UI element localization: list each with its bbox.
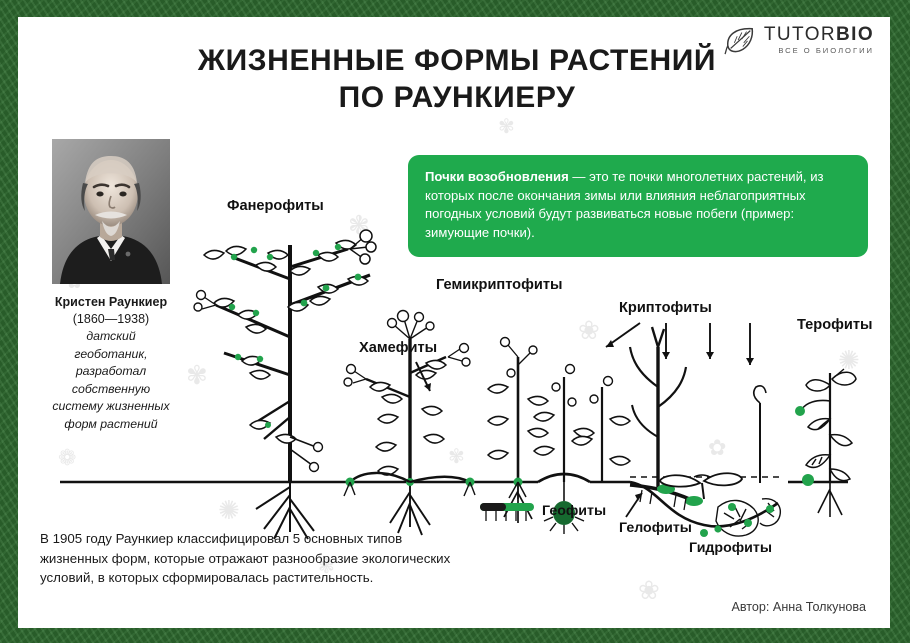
- white-card: ❀ ✿ ✾ ❁ ✺ ❃ ✾ ❀ ✿ ❁ ✺ ❃ ❀ ✾ TUTORBIO В: [18, 17, 890, 628]
- plant-helophyte: [626, 327, 703, 517]
- plant-therophyte: [795, 369, 856, 517]
- label-hemicryptophytes: Гемикриптофиты: [436, 277, 562, 293]
- logo-tagline: ВСЕ О БИОЛОГИИ: [764, 47, 874, 55]
- infographic-poster: ❀ ✿ ✾ ❁ ✺ ❃ ✾ ❀ ✿ ❁ ✺ ❃ ❀ ✾ TUTORBIO В: [0, 0, 910, 643]
- plant-life-forms-diagram: [18, 187, 890, 577]
- title-line-1: ЖИЗНЕННЫЕ ФОРМЫ РАСТЕНИЙ: [148, 43, 766, 80]
- watermark-icon: ❀: [638, 577, 660, 603]
- label-geophytes: Геофиты: [542, 503, 606, 519]
- page-title: ЖИЗНЕННЫЕ ФОРМЫ РАСТЕНИЙ ПО РАУНКИЕРУ: [148, 43, 766, 116]
- label-chamephytes: Хамефиты: [359, 340, 437, 356]
- title-line-2: ПО РАУНКИЕРУ: [148, 80, 766, 117]
- author-credit: Автор: Анна Толкунова: [731, 600, 866, 614]
- summary-text: В 1905 году Раункиер классифицировал 5 о…: [40, 529, 520, 588]
- label-phanerophytes: Фанерофиты: [227, 198, 324, 214]
- summary-line-3: условий, в которых сформировалась растит…: [40, 568, 520, 588]
- label-hydrophytes: Гидрофиты: [689, 540, 772, 556]
- callout-term: Почки возобновления: [425, 169, 569, 184]
- summary-line-1: В 1905 году Раункиер классифицировал 5 о…: [40, 529, 520, 549]
- logo-wordmark: TUTORBIO: [764, 25, 874, 44]
- label-therophytes: Терофиты: [797, 317, 872, 333]
- watermark-icon: ✾: [498, 117, 515, 137]
- label-cryptophytes: Криптофиты: [619, 300, 712, 316]
- label-helophytes: Гелофиты: [619, 520, 692, 536]
- summary-line-2: жизненных форм, которые отражают разнооб…: [40, 549, 520, 569]
